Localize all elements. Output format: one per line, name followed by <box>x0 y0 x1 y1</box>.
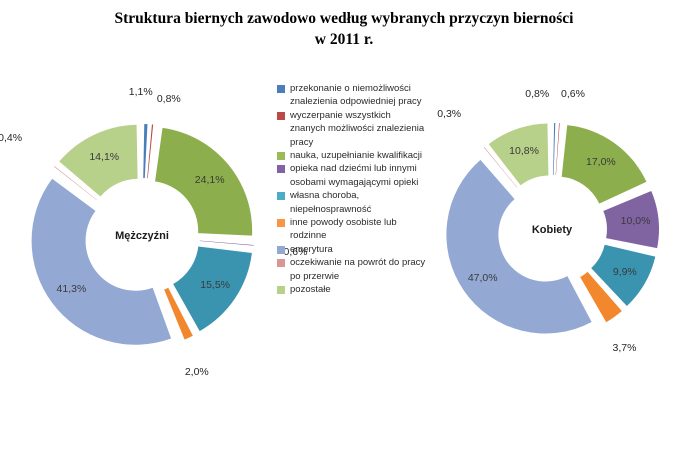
slice-value-label: 0,4% <box>0 132 22 144</box>
legend-item-label: nauka, uzupełnianie kwalifikacji <box>290 149 422 162</box>
legend-item[interactable]: pozostałe <box>277 283 427 296</box>
legend-item-label: inne powody osobiste lub rodzinne <box>290 216 427 243</box>
legend-item-label: oczekiwanie na powrót do pracy po przerw… <box>290 256 427 283</box>
donut-center-label: Kobiety <box>532 224 572 236</box>
legend-item[interactable]: przekonanie o niemożliwości znalezienia … <box>277 82 427 109</box>
legend-item-label: przekonanie o niemożliwości znalezienia … <box>290 82 427 109</box>
legend-swatch-icon <box>277 152 285 160</box>
legend-item[interactable]: inne powody osobiste lub rodzinne <box>277 216 427 243</box>
pie-slice[interactable] <box>200 241 254 246</box>
legend-item[interactable]: wyczerpanie wszystkich znanych możliwośc… <box>277 109 427 149</box>
slice-value-label: 17,0% <box>586 156 616 168</box>
legend-swatch-icon <box>277 112 285 120</box>
slice-value-label: 1,1% <box>129 86 153 98</box>
pie-slice[interactable] <box>32 179 172 345</box>
pie-slice[interactable] <box>556 123 560 175</box>
page-title-line2: w 2011 r. <box>315 31 373 48</box>
pie-slice[interactable] <box>143 124 147 178</box>
slice-value-label: 0,6% <box>561 88 585 100</box>
page-title-line1: Struktura biernych zawodowo według wybra… <box>115 10 574 27</box>
slice-value-label: 9,9% <box>613 266 637 278</box>
slice-value-label: 3,7% <box>613 342 637 354</box>
donut-chart-mezczyzni: Mężczyźni1,1%0,8%24,1%0,6%15,5%2,0%41,3%… <box>18 112 266 360</box>
legend-item[interactable]: oczekiwanie na powrót do pracy po przerw… <box>277 256 427 283</box>
legend-item[interactable]: emerytura <box>277 243 427 256</box>
legend-item-label: opieka nad dziećmi lub innymi osobami wy… <box>290 162 427 189</box>
donut-center-label: Mężczyźni <box>115 230 169 242</box>
legend-item-label: pozostałe <box>290 283 331 296</box>
legend-item[interactable]: własna choroba, niepełnosprawność <box>277 189 427 216</box>
slice-value-label: 10,8% <box>509 145 539 157</box>
pie-slice[interactable] <box>446 160 591 334</box>
legend-swatch-icon <box>277 246 285 254</box>
slice-value-label: 41,3% <box>57 283 87 295</box>
donut-chart-kobiety: Kobiety0,8%0,6%17,0%10,0%9,9%3,7%47,0%0,… <box>434 112 670 348</box>
chart-legend: przekonanie o niemożliwości znalezienia … <box>277 82 427 297</box>
slice-value-label: 15,5% <box>200 279 230 291</box>
slice-value-label: 2,0% <box>185 366 209 378</box>
slice-value-label: 47,0% <box>468 272 498 284</box>
legend-item-label: własna choroba, niepełnosprawność <box>290 189 427 216</box>
slice-value-label: 0,3% <box>437 108 461 120</box>
legend-swatch-icon <box>277 192 285 200</box>
slice-value-label: 0,8% <box>157 93 181 105</box>
legend-item-label: emerytura <box>290 243 333 256</box>
pie-slice[interactable] <box>553 123 555 175</box>
legend-swatch-icon <box>277 219 285 227</box>
legend-item[interactable]: nauka, uzupełnianie kwalifikacji <box>277 149 427 162</box>
legend-item-label: wyczerpanie wszystkich znanych możliwośc… <box>290 109 427 149</box>
slice-value-label: 14,1% <box>89 151 119 163</box>
legend-swatch-icon <box>277 165 285 173</box>
legend-swatch-icon <box>277 259 285 267</box>
legend-swatch-icon <box>277 85 285 93</box>
legend-item[interactable]: opieka nad dziećmi lub innymi osobami wy… <box>277 162 427 189</box>
pie-slice[interactable] <box>147 124 153 178</box>
slice-value-label: 24,1% <box>195 174 225 186</box>
slice-value-label: 0,8% <box>525 88 549 100</box>
page-title: Struktura biernych zawodowo według wybra… <box>60 8 628 50</box>
legend-swatch-icon <box>277 286 285 294</box>
slice-value-label: 10,0% <box>621 215 651 227</box>
chart-canvas: Struktura biernych zawodowo według wybra… <box>0 0 688 476</box>
